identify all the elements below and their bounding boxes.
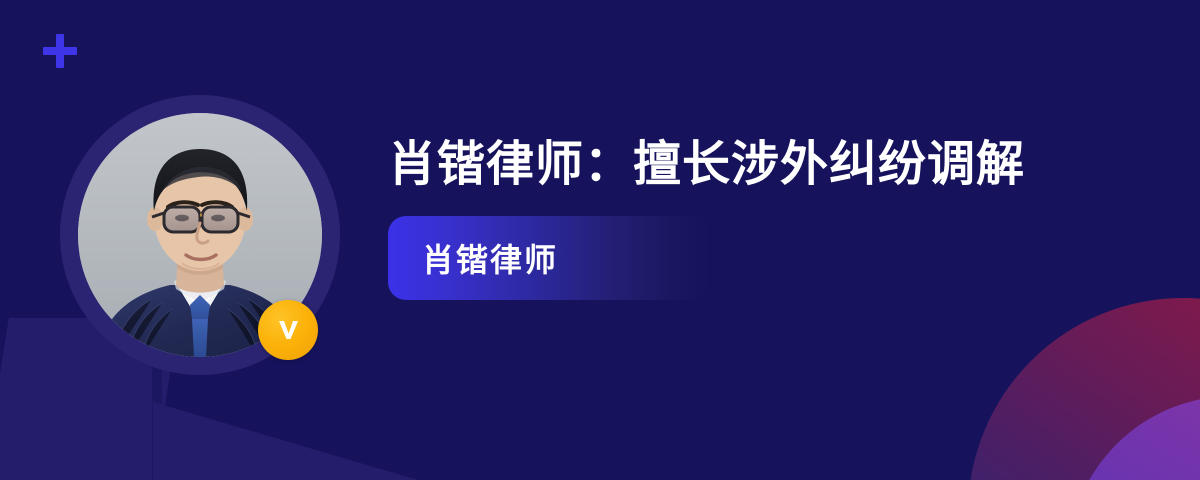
lawyer-name-button[interactable]: 肖锴律师	[388, 216, 710, 300]
lawyer-profile-banner: 肖锴律师：擅长涉外纠纷调解 肖锴律师	[0, 0, 1200, 480]
avatar[interactable]	[60, 95, 340, 375]
verified-badge	[258, 300, 318, 360]
decor-polygon-triangle	[153, 402, 418, 480]
verified-check-icon	[271, 313, 305, 347]
page-title: 肖锴律师：擅长涉外纠纷调解	[388, 128, 1048, 200]
content-column: 肖锴律师：擅长涉外纠纷调解 肖锴律师	[388, 128, 1088, 300]
plus-icon	[43, 34, 77, 68]
plus-icon-vertical-bar	[56, 34, 64, 68]
